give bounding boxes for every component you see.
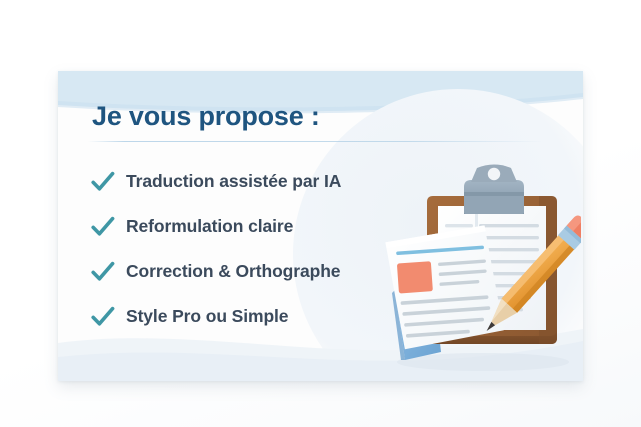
check-icon	[90, 304, 116, 330]
check-icon	[90, 214, 116, 240]
title-divider	[88, 141, 543, 142]
clipboard-document-pencil-illustration	[371, 162, 581, 377]
clipboard-clip	[464, 165, 524, 215]
document-image-block	[397, 261, 433, 293]
check-icon	[90, 169, 116, 195]
list-item-label: Style Pro ou Simple	[126, 306, 288, 327]
offer-card: Je vous propose : Traduction assistée pa…	[58, 71, 583, 381]
list-item-label: Traduction assistée par IA	[126, 171, 341, 192]
list-item-label: Reformulation claire	[126, 216, 293, 237]
list-item-label: Correction & Orthographe	[126, 261, 340, 282]
slide-canvas: Je vous propose : Traduction assistée pa…	[0, 0, 641, 427]
front-document	[385, 225, 505, 351]
check-icon	[90, 259, 116, 285]
page-title: Je vous propose :	[92, 101, 320, 132]
